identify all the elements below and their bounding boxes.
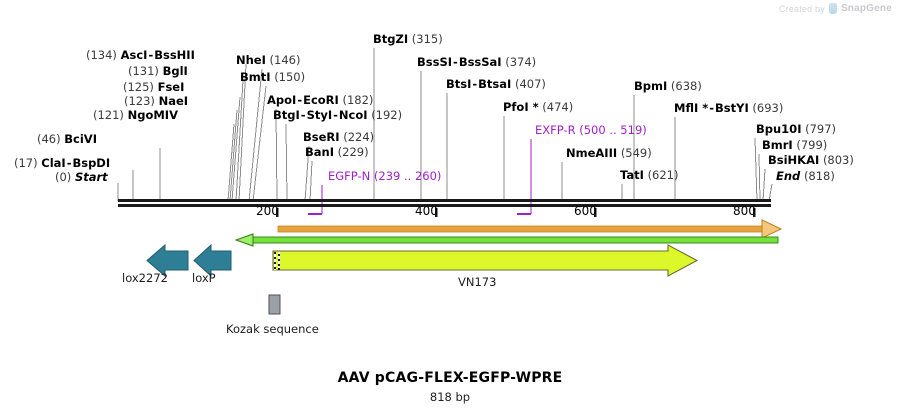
enzyme-name: NheI <box>236 53 266 67</box>
enzyme-name: TatI <box>620 168 644 182</box>
enzyme-position: (803) <box>823 153 854 167</box>
ruler-tick-text: 600 <box>574 204 597 218</box>
enzyme-position: (797) <box>805 122 836 136</box>
enzyme-name: FseI <box>158 80 185 94</box>
enzyme-label-naei[interactable]: (123) NaeI <box>124 95 188 107</box>
plasmid-length: 818 bp <box>0 390 900 404</box>
enzyme-name: BanI <box>305 145 334 159</box>
enzyme-name: AscI <box>121 48 148 62</box>
ruler-tick-text: 800 <box>733 204 756 218</box>
enzyme-position: (693) <box>752 101 783 115</box>
feature-label-text: loxP <box>192 271 216 285</box>
enzyme-position: (121) <box>93 108 124 122</box>
enzyme-position: (192) <box>371 108 402 122</box>
enzyme-name: BtgI <box>273 108 300 122</box>
enzyme-label-pfoi[interactable]: PfoI * (474) <box>503 101 573 113</box>
enzyme-position: (474) <box>542 100 573 114</box>
enzyme-label-tati[interactable]: TatI (621) <box>620 169 679 181</box>
enzyme-position: (182) <box>342 93 373 107</box>
enzyme-position: (125) <box>123 80 154 94</box>
marker-name: Start <box>75 170 108 184</box>
enzyme-name: BglI <box>163 64 188 78</box>
enzyme-label-bcivi[interactable]: (46) BciVI <box>37 133 97 145</box>
ruler-tick-text: 400 <box>415 204 438 218</box>
enzyme-name: NcoI <box>339 108 368 122</box>
enzyme-position: (799) <box>796 138 827 152</box>
marker-label-start[interactable]: (0) Start <box>55 171 108 183</box>
primer-label-egfp-n[interactable]: EGFP-N (239 .. 260) <box>328 170 441 182</box>
ruler-tick-text: 200 <box>256 204 279 218</box>
enzyme-position: (17) <box>14 156 38 170</box>
enzyme-label-apoi-ecori[interactable]: ApoI-EcoRI (182) <box>267 94 373 106</box>
enzyme-position: (146) <box>270 53 301 67</box>
enzyme-label-bsihkai[interactable]: BsiHKAI (803) <box>768 154 854 166</box>
enzyme-label-btgzi[interactable]: BtgZI (315) <box>373 33 443 45</box>
enzyme-label-bgli[interactable]: (131) BglI <box>128 65 188 77</box>
enzyme-position: (621) <box>648 168 679 182</box>
annotation-label-layer: (17) ClaI-BspDI (0) Start (46) BciVI (12… <box>0 0 900 411</box>
feature-label-kozak-sequence: Kozak sequence <box>226 322 319 336</box>
enzyme-label-bsssi-bsssai[interactable]: BssSI-BssSaI (374) <box>417 56 536 68</box>
enzyme-label-nmeaiii[interactable]: NmeAIII (549) <box>566 147 652 159</box>
feature-label-text: lox2272 <box>122 271 168 285</box>
enzyme-name: BssHII <box>154 48 195 62</box>
enzyme-label-bpu10i[interactable]: Bpu10I (797) <box>756 123 836 135</box>
enzyme-label-bpmi[interactable]: BpmI (638) <box>634 80 702 92</box>
marker-name: End <box>776 169 800 183</box>
enzyme-name: BsiHKAI <box>768 153 819 167</box>
enzyme-label-fsei[interactable]: (125) FseI <box>123 81 184 93</box>
ruler-tick-label-800: 800 <box>733 205 756 217</box>
enzyme-position: (638) <box>671 79 702 93</box>
enzyme-name: BtgZI <box>373 32 408 46</box>
enzyme-position: (224) <box>343 130 374 144</box>
feature-label-text: Kozak sequence <box>226 322 319 336</box>
enzyme-name: BstYI <box>715 101 749 115</box>
enzyme-label-mfli-bstyi[interactable]: MflI *-BstYI (693) <box>674 102 783 114</box>
enzyme-name: BmrI <box>762 138 793 152</box>
enzyme-label-nhei[interactable]: NheI (146) <box>236 54 300 66</box>
enzyme-position: (131) <box>128 64 159 78</box>
ruler-tick-label-600: 600 <box>574 205 597 217</box>
enzyme-name: BpmI <box>634 79 667 93</box>
enzyme-position: (407) <box>515 77 546 91</box>
feature-label-lox2272: lox2272 <box>122 271 168 285</box>
enzyme-label-bseri[interactable]: BseRI (224) <box>303 131 374 143</box>
enzyme-position: (150) <box>274 70 305 84</box>
enzyme-position: (134) <box>86 48 117 62</box>
feature-label-loxp: loxP <box>192 271 216 285</box>
enzyme-name: MflI * <box>674 101 708 115</box>
enzyme-name: Bpu10I <box>756 122 801 136</box>
enzyme-name: BtsaI <box>478 77 511 91</box>
enzyme-name: BseRI <box>303 130 340 144</box>
enzyme-name: ClaI <box>41 156 65 170</box>
enzyme-label-btgi-styi-ncoi[interactable]: BtgI-StyI-NcoI (192) <box>273 109 402 121</box>
enzyme-name: BtsI <box>446 77 471 91</box>
primer-name: EGFP-N <box>328 169 370 183</box>
enzyme-label-bani[interactable]: BanI (229) <box>305 146 369 158</box>
enzyme-name: EcoRI <box>303 93 339 107</box>
enzyme-name: BciVI <box>64 132 97 146</box>
enzyme-name: NmeAIII <box>566 146 617 160</box>
primer-range: (239 .. 260) <box>374 169 442 183</box>
enzyme-position: (123) <box>124 94 155 108</box>
enzyme-name: ApoI <box>267 93 296 107</box>
enzyme-name: BspDI <box>72 156 110 170</box>
marker-position: (818) <box>804 169 835 183</box>
enzyme-name: NaeI <box>159 94 188 108</box>
ruler-tick-label-200: 200 <box>256 205 279 217</box>
marker-position: (0) <box>55 170 71 184</box>
enzyme-name: BssSI <box>417 55 452 69</box>
enzyme-name: StyI <box>307 108 333 122</box>
primer-label-exfp-r[interactable]: EXFP-R (500 .. 519) <box>535 124 647 136</box>
enzyme-label-clai-bspdi[interactable]: (17) ClaI-BspDI <box>14 157 110 169</box>
enzyme-position: (549) <box>621 146 652 160</box>
feature-label-text: VN173 <box>458 275 496 289</box>
enzyme-position: (229) <box>338 145 369 159</box>
enzyme-label-bmri[interactable]: BmrI (799) <box>762 139 827 151</box>
enzyme-name: NgoMIV <box>128 108 178 122</box>
enzyme-label-asci-bsshii[interactable]: (134) AscI-BssHII <box>86 49 195 61</box>
enzyme-name: BssSaI <box>459 55 502 69</box>
primer-range: (500 .. 519) <box>579 123 647 137</box>
feature-label-vn173: VN173 <box>458 275 496 289</box>
primer-name: EXFP-R <box>535 123 576 137</box>
enzyme-name: BmtI <box>240 70 271 84</box>
enzyme-label-bmti[interactable]: BmtI (150) <box>240 71 305 83</box>
plasmid-name: AAV pCAG-FLEX-EGFP-WPRE <box>0 370 900 386</box>
marker-label-end[interactable]: End (818) <box>776 170 835 182</box>
enzyme-position: (315) <box>412 32 443 46</box>
enzyme-position: (374) <box>505 55 536 69</box>
enzyme-name: PfoI * <box>503 100 539 114</box>
enzyme-label-ngomiv[interactable]: (121) NgoMIV <box>93 109 178 121</box>
enzyme-position: (46) <box>37 132 61 146</box>
map-title-block: AAV pCAG-FLEX-EGFP-WPRE 818 bp <box>0 370 900 404</box>
enzyme-label-btsi-btsai[interactable]: BtsI-BtsaI (407) <box>446 78 546 90</box>
ruler-tick-label-400: 400 <box>415 205 438 217</box>
